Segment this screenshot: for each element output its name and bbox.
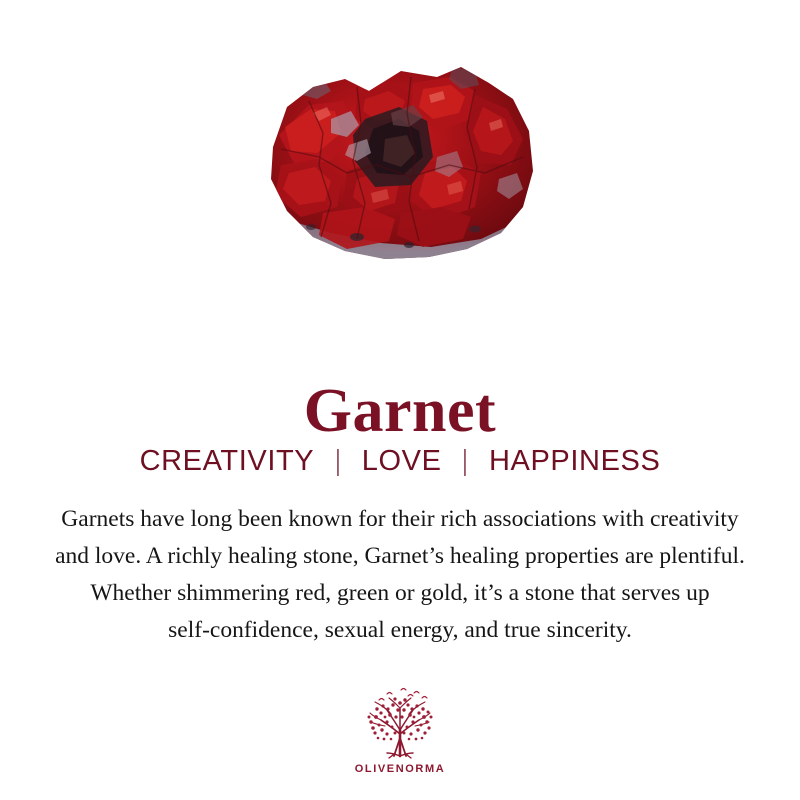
- tagline-word-creativity: CREATIVITY: [140, 444, 315, 479]
- gemstone-info-card: Garnet CREATIVITY | LOVE | HAPPINESS Gar…: [0, 0, 800, 800]
- page-title: Garnet: [0, 380, 800, 442]
- description-paragraph: Garnets have long been known for their r…: [22, 501, 778, 649]
- description-line-4: self-confidence, sexual energy, and true…: [22, 612, 778, 649]
- tagline-word-love: LOVE: [362, 444, 442, 479]
- brand-name: OLIVENORMA: [355, 763, 446, 775]
- description-line-2: and love. A richly healing stone, Garnet…: [22, 538, 778, 575]
- tagline-word-happiness: HAPPINESS: [489, 444, 660, 479]
- description-line-3: Whether shimmering red, green or gold, i…: [22, 575, 778, 612]
- keywords-tagline: CREATIVITY | LOVE | HAPPINESS: [0, 444, 800, 479]
- tagline-separator-2: |: [463, 444, 467, 479]
- tree-of-life-icon: [357, 684, 443, 760]
- description-line-1: Garnets have long been known for their r…: [22, 501, 778, 538]
- garnet-crystal-image: [261, 61, 539, 265]
- tagline-separator-1: |: [336, 444, 340, 479]
- brand-logo: OLIVENORMA: [0, 684, 800, 775]
- hero-image-container: [0, 52, 800, 274]
